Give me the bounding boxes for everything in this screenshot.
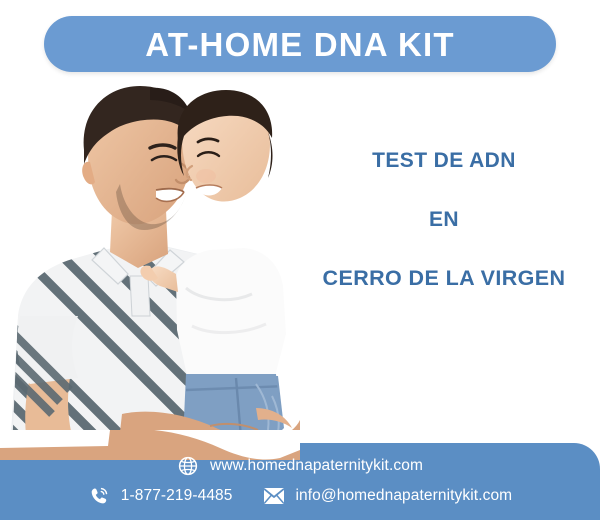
footer-row-contact: 1-877-219-4485 info@homednapaternitykit.… [0,482,600,510]
email-item[interactable]: info@homednapaternitykit.com [263,485,513,507]
headline-line-1: TEST DE ADN [296,150,592,171]
globe-icon [177,455,199,477]
website-item[interactable]: www.homednapaternitykit.com [177,455,423,477]
phone-icon [88,485,110,507]
header-title: AT-HOME DNA KIT [145,28,454,61]
footer-row-website: www.homednapaternitykit.com [0,452,600,480]
headline-line-3: CERRO DE LA VIRGEN [296,268,592,290]
email-label: info@homednapaternitykit.com [296,488,513,504]
father-holding-toddler-photo [0,78,300,450]
headline-block: TEST DE ADN EN CERRO DE LA VIRGEN [296,150,592,290]
phone-label: 1-877-219-4485 [121,488,233,504]
headline-line-2: EN [296,209,592,230]
phone-item[interactable]: 1-877-219-4485 [88,485,233,507]
website-label: www.homednapaternitykit.com [210,458,423,474]
envelope-icon [263,485,285,507]
poster-canvas: AT-HOME DNA KIT [0,0,600,520]
header-banner: AT-HOME DNA KIT [44,16,556,72]
